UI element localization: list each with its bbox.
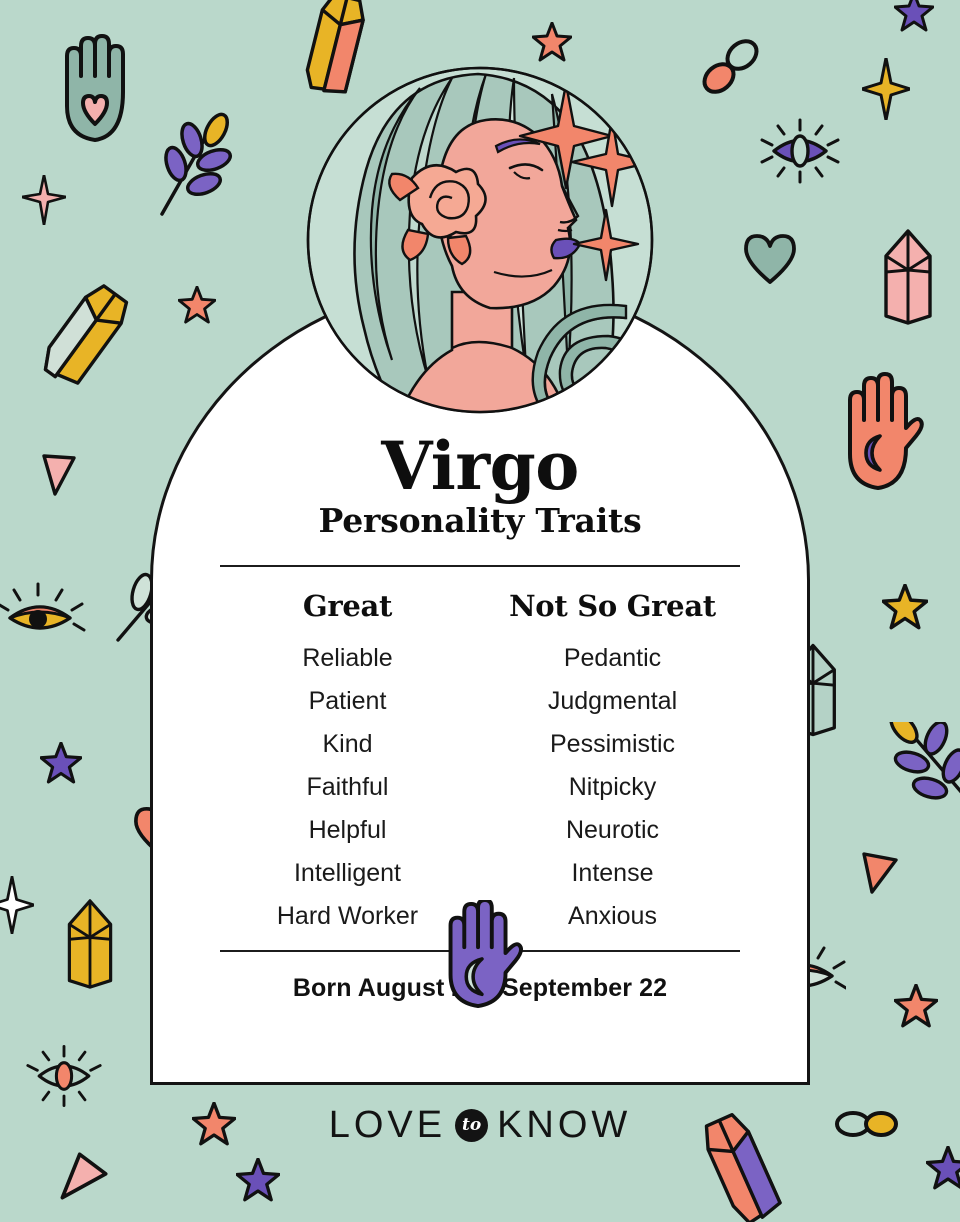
leaf-branch-icon (884, 722, 960, 822)
trait-item: Kind (220, 723, 475, 766)
trait-item: Helpful (220, 809, 475, 852)
logo-badge: to (455, 1109, 488, 1142)
logo-word-love: LOVE (329, 1104, 446, 1147)
poster-canvas: Virgo Personality Traits Great Reliable … (0, 0, 960, 1200)
leaf-branch-icon (150, 110, 240, 220)
title-block: Virgo Personality Traits (319, 435, 642, 540)
trait-item: Nitpicky (485, 766, 740, 809)
trait-item: Faithful (220, 766, 475, 809)
trait-item: Intelligent (220, 852, 475, 895)
heart-icon (742, 232, 798, 286)
column-heading-not-so-great: Not So Great (485, 589, 740, 623)
trait-item: Neurotic (485, 809, 740, 852)
five-point-star-icon (926, 1146, 960, 1190)
crystal-icon (876, 228, 940, 326)
five-point-star-icon (532, 22, 572, 62)
five-point-star-icon (894, 0, 934, 32)
five-point-star-icon (236, 1158, 280, 1202)
trait-item: Pedantic (485, 637, 740, 680)
six-point-star-icon (22, 175, 66, 225)
triangle-icon (58, 1150, 110, 1202)
crystal-icon (60, 898, 120, 990)
column-heading-great: Great (220, 589, 475, 623)
divider-top (220, 565, 740, 567)
trait-item: Patient (220, 680, 475, 723)
crystal-icon (36, 278, 132, 396)
traits-column-not-so-great: Not So Great Pedantic Judgmental Pessimi… (485, 589, 740, 938)
logo-word-know: KNOW (497, 1104, 631, 1147)
five-point-star-icon (894, 984, 938, 1028)
traits-columns: Great Reliable Patient Kind Faithful Hel… (220, 589, 740, 938)
traits-column-great: Great Reliable Patient Kind Faithful Hel… (220, 589, 475, 938)
logo-badge-text: to (462, 1117, 481, 1134)
infinity-icon (700, 36, 762, 98)
four-point-star-icon (862, 58, 910, 120)
hand-with-moon-icon (832, 370, 928, 495)
triangle-icon (854, 850, 902, 898)
page-title: Virgo (319, 435, 642, 498)
trait-item: Pessimistic (485, 723, 740, 766)
trait-item: Intense (485, 852, 740, 895)
five-point-star-icon (40, 742, 82, 784)
trait-item: Judgmental (485, 680, 740, 723)
four-point-star-icon (0, 876, 34, 934)
hand-with-moon-icon (430, 900, 530, 1010)
trait-item: Reliable (220, 637, 475, 680)
triangle-icon (40, 452, 78, 498)
hand-with-heart-icon (50, 30, 136, 150)
eye-icon (0, 578, 86, 650)
lovetoknow-logo[interactable]: LOVE to KNOW (0, 1104, 960, 1147)
page-subtitle: Personality Traits (319, 502, 642, 540)
eye-icon (758, 118, 842, 184)
eye-icon (24, 1044, 104, 1108)
four-point-star-icon (882, 584, 928, 630)
